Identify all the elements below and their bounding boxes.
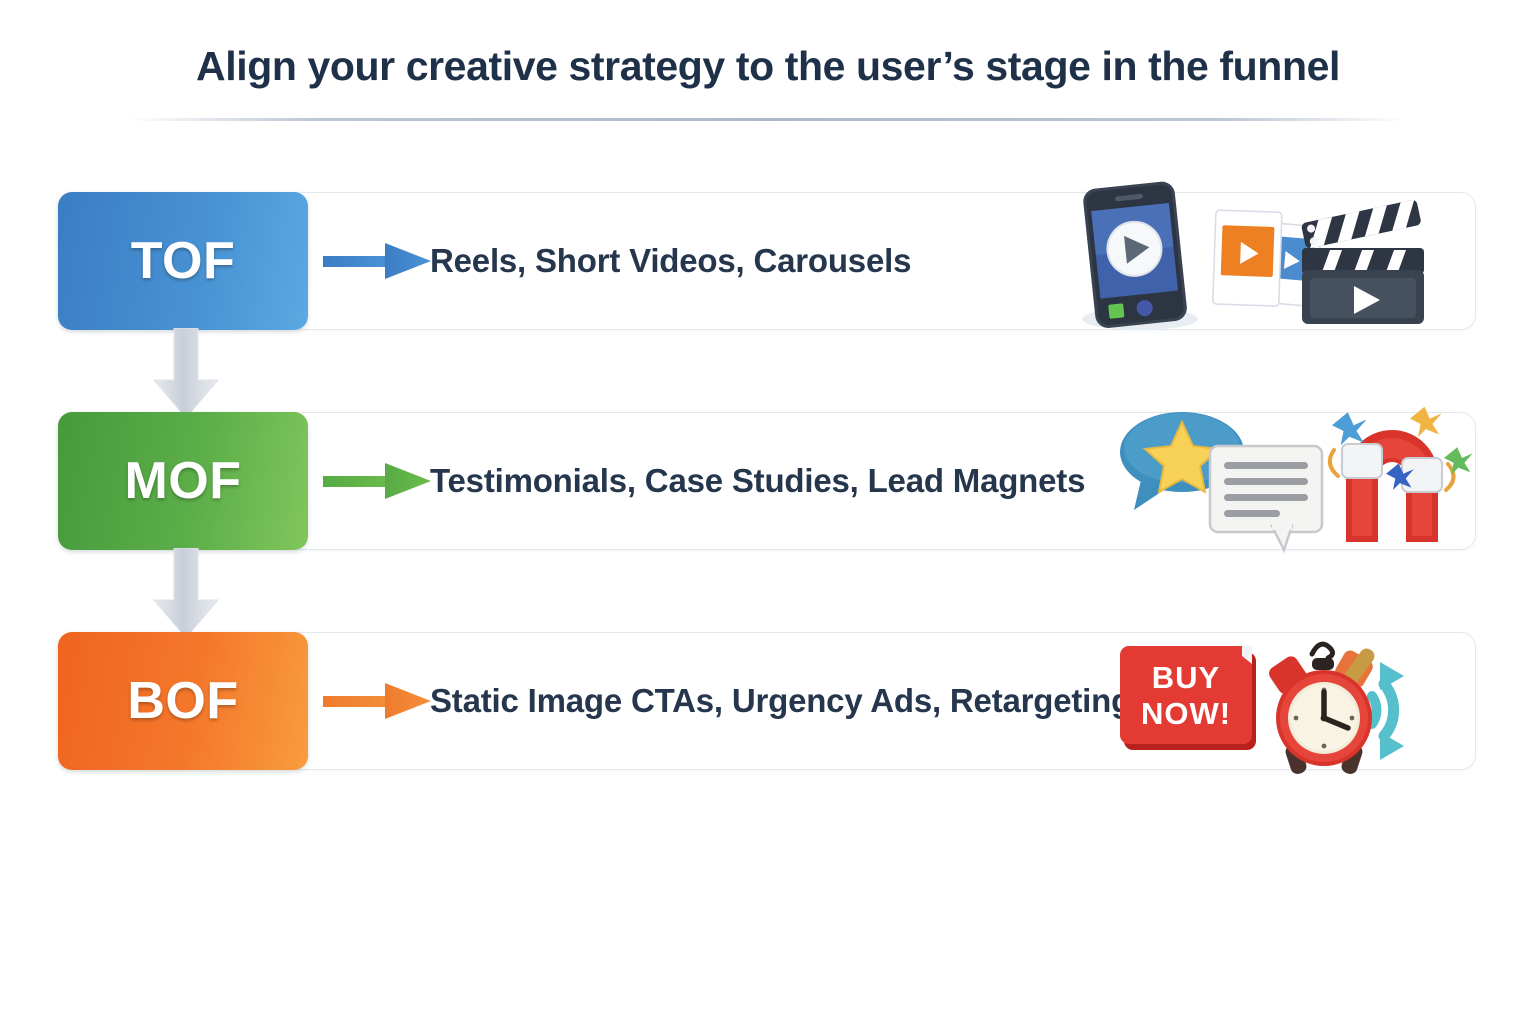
row-arrow-tof-icon <box>323 239 431 283</box>
connector-arrow-mof-to-bof-icon <box>150 548 222 640</box>
funnel-diagram: TOF Reels, Short Videos, Carousels <box>0 0 1536 1024</box>
row-text-mof: Testimonials, Case Studies, Lead Magnets <box>430 462 1085 500</box>
funnel-row-tof[interactable]: TOF Reels, Short Videos, Carousels <box>58 192 1476 330</box>
stage-badge-label: MOF <box>124 451 241 511</box>
funnel-row-bof[interactable]: BOF Static Image CTAs, Urgency Ads, Reta… <box>58 632 1476 770</box>
row-text-bof: Static Image CTAs, Urgency Ads, Retarget… <box>430 682 1131 720</box>
icon-cluster-mof <box>1116 406 1466 556</box>
icon-cluster-tof <box>1068 186 1428 336</box>
stage-badge-label: BOF <box>127 671 238 731</box>
row-text-tof: Reels, Short Videos, Carousels <box>430 242 911 280</box>
svg-text:BUY: BUY <box>1152 660 1220 695</box>
icon-cluster-bof: BUY NOW! <box>1118 626 1468 776</box>
connector-arrow-tof-to-mof-icon <box>150 328 222 420</box>
funnel-row-mof[interactable]: MOF Testimonials, Case Studies, Lead Mag… <box>58 412 1476 550</box>
row-arrow-mof-icon <box>323 459 431 503</box>
stage-badge-tof[interactable]: TOF <box>58 192 308 330</box>
stage-badge-label: TOF <box>131 231 236 291</box>
stage-badge-mof[interactable]: MOF <box>58 412 308 550</box>
row-arrow-bof-icon <box>323 679 431 723</box>
stage-badge-bof[interactable]: BOF <box>58 632 308 770</box>
svg-text:NOW!: NOW! <box>1141 696 1231 731</box>
